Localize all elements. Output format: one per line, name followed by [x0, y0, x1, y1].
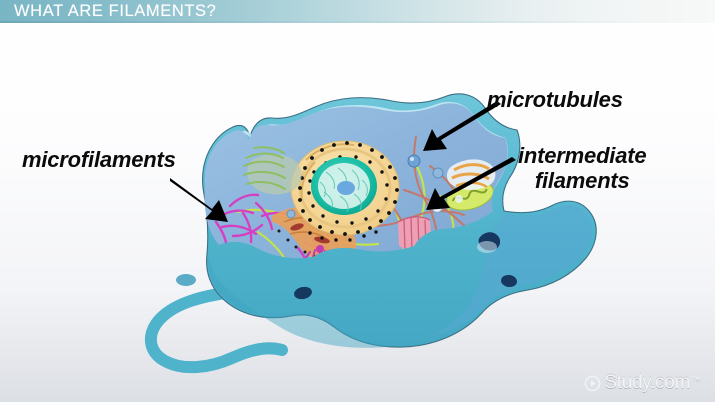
- watermark-text: Study.com: [604, 372, 690, 394]
- play-circle-icon: [584, 375, 601, 392]
- label-intermediate-filaments: intermediate filaments: [518, 144, 646, 194]
- study-com-watermark: Study.com ™: [584, 372, 701, 394]
- nucleus: [311, 157, 377, 215]
- label-intermediate-line1: intermediate: [518, 143, 646, 168]
- watermark-trademark: ™: [692, 375, 701, 385]
- animal-cell-diagram: [0, 0, 715, 402]
- nucleolus: [337, 181, 355, 195]
- slide-canvas: WHAT ARE FILAMENTS?: [0, 0, 715, 402]
- label-intermediate-line2: filaments: [518, 169, 646, 194]
- label-microtubules: microtubules: [487, 88, 623, 113]
- label-microfilaments: microfilaments: [22, 148, 176, 173]
